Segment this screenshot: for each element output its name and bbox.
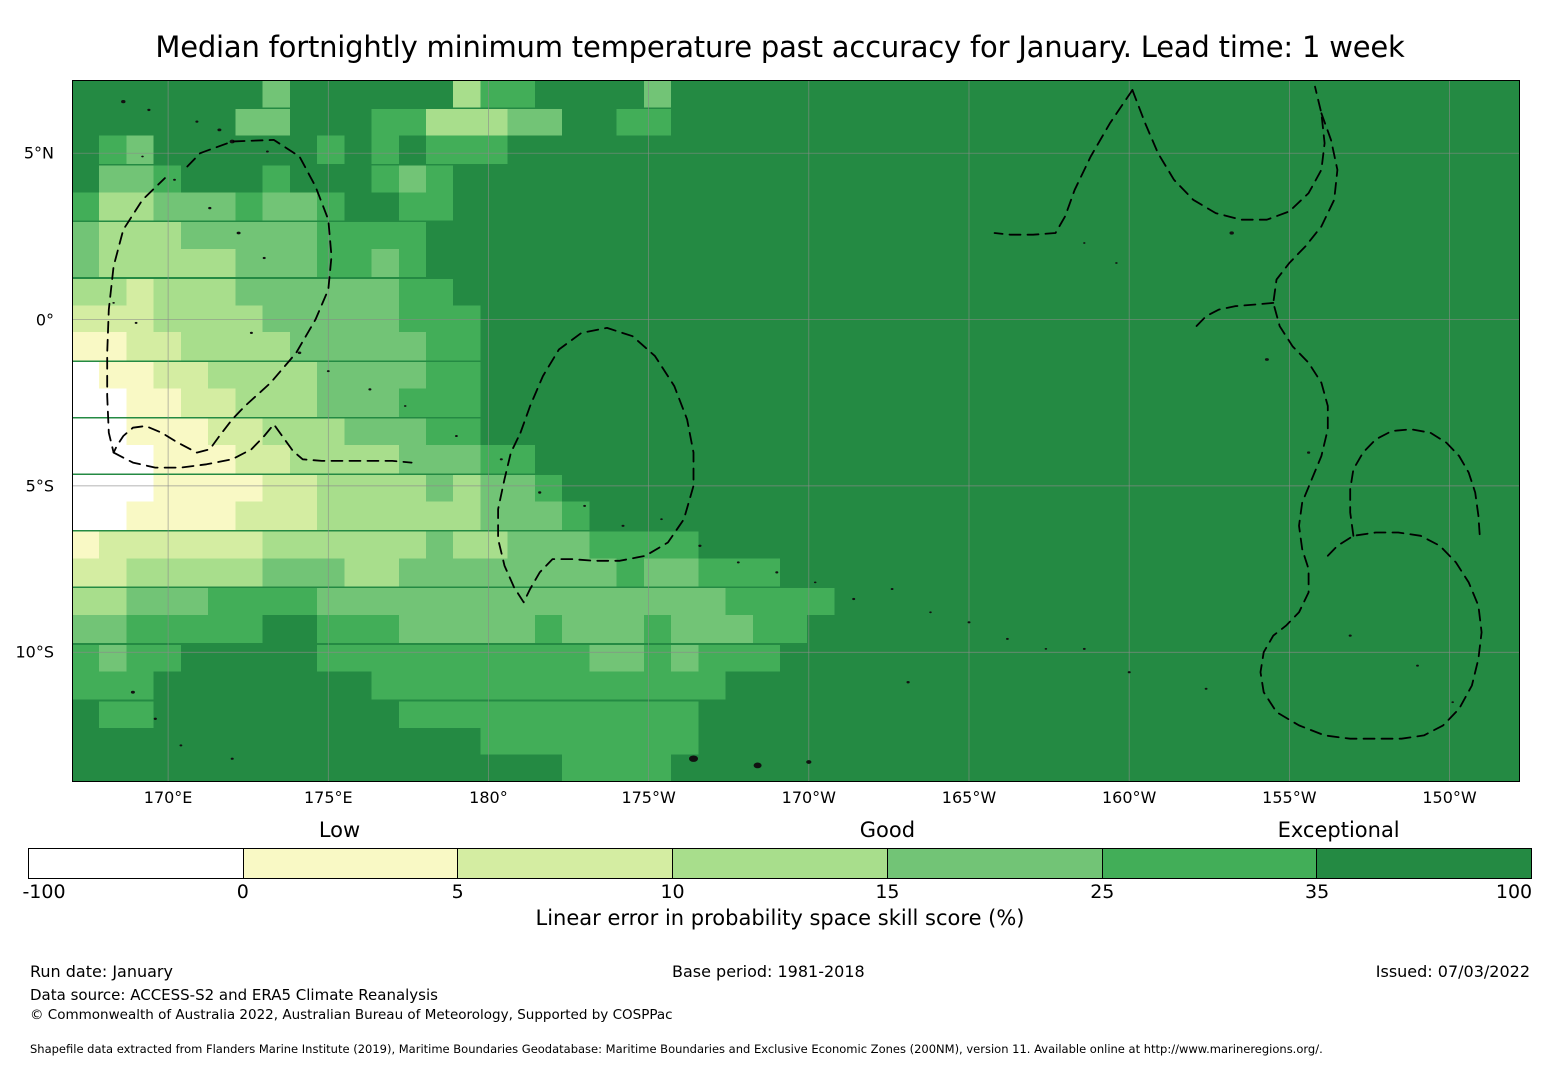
island-coastline xyxy=(180,744,183,746)
colorbar-segment[interactable] xyxy=(457,849,672,878)
heatmap-cell xyxy=(1379,192,1406,220)
heatmap-cell xyxy=(508,109,535,137)
heatmap-cell xyxy=(834,166,861,194)
heatmap-cell xyxy=(1188,222,1215,250)
heatmap-cell xyxy=(1107,222,1134,250)
heatmap-cell xyxy=(1025,166,1052,194)
heatmap-cell xyxy=(671,615,698,643)
heatmap-cell xyxy=(1352,645,1379,673)
heatmap-cell xyxy=(726,419,753,447)
heatmap-cell xyxy=(1488,166,1515,194)
heatmap-cell xyxy=(1406,362,1433,390)
heatmap-cell xyxy=(1379,136,1406,164)
heatmap-cell xyxy=(317,362,344,390)
heatmap-cell xyxy=(1161,701,1188,729)
heatmap-cell xyxy=(1325,615,1352,643)
heatmap-cell xyxy=(480,332,507,360)
footer-run-date: Run date: January xyxy=(30,962,173,981)
heatmap-cell xyxy=(126,192,153,220)
heatmap-cell xyxy=(508,475,535,503)
heatmap-cell xyxy=(943,332,970,360)
heatmap-cell xyxy=(263,558,290,586)
heatmap-cell xyxy=(644,109,671,137)
heatmap-cell xyxy=(1461,445,1488,473)
heatmap-cell xyxy=(263,532,290,560)
heatmap-cell xyxy=(1161,755,1188,782)
heatmap-cell xyxy=(1434,445,1461,473)
heatmap-cell xyxy=(126,109,153,137)
y-tick-label: 5°S xyxy=(26,476,54,495)
heatmap-cell xyxy=(535,419,562,447)
heatmap-cell xyxy=(617,166,644,194)
heatmap-cell xyxy=(1243,332,1270,360)
heatmap-cell xyxy=(263,222,290,250)
heatmap-cell xyxy=(208,671,235,699)
heatmap-cell xyxy=(617,192,644,220)
heatmap-cell xyxy=(1352,389,1379,417)
heatmap-cell xyxy=(235,615,262,643)
heatmap-cell xyxy=(726,249,753,277)
heatmap-cell xyxy=(617,615,644,643)
island-coastline xyxy=(1083,648,1086,650)
heatmap-cell xyxy=(372,755,399,782)
heatmap-cell xyxy=(889,249,916,277)
heatmap-cell xyxy=(698,279,725,307)
heatmap-cell xyxy=(1270,475,1297,503)
heatmap-cell xyxy=(862,166,889,194)
heatmap-cell xyxy=(1297,701,1324,729)
heatmap-cell xyxy=(671,645,698,673)
heatmap-cell xyxy=(99,755,126,782)
heatmap-cell xyxy=(399,645,426,673)
heatmap-cell xyxy=(1434,389,1461,417)
heatmap-cell xyxy=(998,419,1025,447)
heatmap-cell xyxy=(1434,645,1461,673)
heatmap-cell xyxy=(1406,80,1433,107)
heatmap-cell xyxy=(72,362,99,390)
heatmap-cell xyxy=(971,445,998,473)
heatmap-cell xyxy=(480,588,507,616)
heatmap-cell xyxy=(1243,109,1270,137)
colorbar-segment[interactable] xyxy=(29,849,243,878)
colorbar-segment[interactable] xyxy=(672,849,887,878)
heatmap-cell xyxy=(1243,222,1270,250)
heatmap-cell xyxy=(807,701,834,729)
heatmap-cell xyxy=(1243,755,1270,782)
heatmap-cell xyxy=(181,419,208,447)
heatmap-cell xyxy=(99,166,126,194)
heatmap-cell xyxy=(1325,588,1352,616)
heatmap-cell xyxy=(562,166,589,194)
heatmap-cell xyxy=(589,109,616,137)
island-coastline xyxy=(1307,451,1310,453)
heatmap-cell xyxy=(753,192,780,220)
heatmap-cell xyxy=(726,615,753,643)
colorbar-segment[interactable] xyxy=(1102,849,1317,878)
heatmap-cell xyxy=(208,332,235,360)
heatmap-cell xyxy=(181,615,208,643)
heatmap-cell xyxy=(263,755,290,782)
heatmap-cell xyxy=(99,645,126,673)
island-coastline xyxy=(622,525,625,527)
heatmap-cell xyxy=(780,80,807,107)
heatmap-cell xyxy=(1270,728,1297,756)
heatmap-cell xyxy=(562,249,589,277)
heatmap-cell xyxy=(1270,671,1297,699)
heatmap-cell xyxy=(807,389,834,417)
heatmap-cell xyxy=(99,362,126,390)
heatmap-cell xyxy=(317,701,344,729)
heatmap-cell xyxy=(99,671,126,699)
island-coastline xyxy=(1115,262,1118,264)
heatmap-cell xyxy=(916,419,943,447)
heatmap-cell xyxy=(1188,332,1215,360)
heatmap-cell xyxy=(1297,671,1324,699)
heatmap-cell xyxy=(753,502,780,530)
heatmap-cell xyxy=(1488,332,1515,360)
heatmap-cell xyxy=(1161,279,1188,307)
x-tick-label: 150°W xyxy=(1422,788,1476,807)
heatmap-cell xyxy=(753,362,780,390)
heatmap-cell xyxy=(1107,475,1134,503)
heatmap-cell xyxy=(671,332,698,360)
heatmap-cell xyxy=(480,109,507,137)
heatmap-cell xyxy=(426,80,453,107)
heatmap-cell xyxy=(508,166,535,194)
heatmap-cell xyxy=(399,475,426,503)
heatmap-cell xyxy=(943,532,970,560)
heatmap-cell xyxy=(317,192,344,220)
heatmap-cell xyxy=(698,532,725,560)
heatmap-cell xyxy=(1216,502,1243,530)
heatmap-cell xyxy=(862,136,889,164)
heatmap-cell xyxy=(698,502,725,530)
heatmap-cell xyxy=(943,80,970,107)
heatmap-cell xyxy=(1488,671,1515,699)
heatmap-cell xyxy=(753,136,780,164)
heatmap-cell xyxy=(426,532,453,560)
heatmap-cell xyxy=(1297,755,1324,782)
heatmap-cell xyxy=(72,615,99,643)
heatmap-cell xyxy=(889,588,916,616)
heatmap-cell xyxy=(535,332,562,360)
heatmap-cell xyxy=(508,588,535,616)
heatmap-cell xyxy=(426,166,453,194)
heatmap-cell xyxy=(1488,389,1515,417)
heatmap-cell xyxy=(1216,588,1243,616)
map-raster-svg xyxy=(72,80,1520,782)
heatmap-cell xyxy=(126,615,153,643)
heatmap-cell xyxy=(834,755,861,782)
heatmap-cell xyxy=(181,558,208,586)
heatmap-cell xyxy=(834,362,861,390)
heatmap-cell xyxy=(72,222,99,250)
heatmap-cell xyxy=(480,755,507,782)
heatmap-cell xyxy=(317,728,344,756)
heatmap-cell xyxy=(372,558,399,586)
heatmap-cell xyxy=(834,588,861,616)
heatmap-cell xyxy=(862,671,889,699)
heatmap-cell xyxy=(208,166,235,194)
heatmap-cell xyxy=(235,332,262,360)
heatmap-cell xyxy=(1161,389,1188,417)
heatmap-cell xyxy=(1270,755,1297,782)
y-tick-label: 0° xyxy=(36,310,54,329)
colorbar-tick: 0 xyxy=(237,881,249,903)
heatmap-cell xyxy=(453,701,480,729)
heatmap-cell xyxy=(372,166,399,194)
heatmap-cell xyxy=(1297,588,1324,616)
heatmap-cell xyxy=(617,728,644,756)
heatmap-cell xyxy=(480,445,507,473)
heatmap-cell xyxy=(535,249,562,277)
heatmap-cell xyxy=(372,671,399,699)
heatmap-cell xyxy=(1025,419,1052,447)
heatmap-cell xyxy=(263,166,290,194)
heatmap-cell xyxy=(943,249,970,277)
heatmap-cell xyxy=(1379,475,1406,503)
heatmap-cell xyxy=(1488,558,1515,586)
heatmap-cell xyxy=(617,532,644,560)
heatmap-cell xyxy=(1406,419,1433,447)
y-tick-label: 10°S xyxy=(15,643,54,662)
heatmap-cell xyxy=(508,532,535,560)
heatmap-cell xyxy=(562,109,589,137)
heatmap-cell xyxy=(1243,615,1270,643)
island-coastline xyxy=(775,571,778,573)
heatmap-cell xyxy=(208,109,235,137)
heatmap-cell xyxy=(589,445,616,473)
heatmap-cell xyxy=(562,475,589,503)
island-coastline xyxy=(404,405,407,407)
heatmap-cell xyxy=(807,615,834,643)
heatmap-cell xyxy=(698,109,725,137)
heatmap-cell xyxy=(834,279,861,307)
colorbar-segment[interactable] xyxy=(243,849,458,878)
heatmap-cell xyxy=(1243,558,1270,586)
heatmap-cell xyxy=(1379,249,1406,277)
heatmap-cell xyxy=(317,532,344,560)
heatmap-cell xyxy=(126,362,153,390)
heatmap-cell xyxy=(1052,279,1079,307)
colorbar-tick: 35 xyxy=(1305,881,1329,903)
heatmap-cell xyxy=(1243,671,1270,699)
heatmap-cell xyxy=(1052,362,1079,390)
heatmap-cell xyxy=(154,109,181,137)
heatmap-cell xyxy=(508,136,535,164)
heatmap-cell xyxy=(889,136,916,164)
heatmap-cell xyxy=(1080,279,1107,307)
heatmap-cell xyxy=(235,445,262,473)
heatmap-cell xyxy=(780,279,807,307)
heatmap-cell xyxy=(235,558,262,586)
heatmap-cell xyxy=(426,671,453,699)
heatmap-cell xyxy=(562,558,589,586)
heatmap-cell xyxy=(344,558,371,586)
heatmap-cell xyxy=(235,701,262,729)
heatmap-cell xyxy=(671,389,698,417)
heatmap-cell xyxy=(508,445,535,473)
heatmap-cell xyxy=(480,671,507,699)
heatmap-cell xyxy=(1406,389,1433,417)
heatmap-cell xyxy=(399,332,426,360)
heatmap-cell xyxy=(263,615,290,643)
heatmap-cell xyxy=(1243,362,1270,390)
colorbar-segment[interactable] xyxy=(887,849,1102,878)
island-coastline xyxy=(266,151,269,153)
heatmap-cell xyxy=(998,279,1025,307)
heatmap-cell xyxy=(1488,192,1515,220)
colorbar-segment[interactable] xyxy=(1316,849,1531,878)
heatmap-cell xyxy=(589,475,616,503)
heatmap-cell xyxy=(344,502,371,530)
heatmap-cell xyxy=(834,445,861,473)
heatmap-cell xyxy=(1161,728,1188,756)
heatmap-cell xyxy=(126,249,153,277)
heatmap-cell xyxy=(344,445,371,473)
heatmap-cell xyxy=(562,671,589,699)
heatmap-cell xyxy=(535,445,562,473)
heatmap-cell xyxy=(1080,362,1107,390)
heatmap-cell xyxy=(372,109,399,137)
heatmap-cell xyxy=(998,222,1025,250)
heatmap-cell xyxy=(780,362,807,390)
heatmap-cell xyxy=(862,645,889,673)
heatmap-cell xyxy=(916,558,943,586)
heatmap-cell xyxy=(562,136,589,164)
heatmap-cell xyxy=(1434,755,1461,782)
heatmap-cell xyxy=(1270,502,1297,530)
heatmap-cell xyxy=(1325,80,1352,107)
colorbar[interactable] xyxy=(28,848,1532,879)
heatmap-cell xyxy=(644,279,671,307)
heatmap-cell xyxy=(1134,362,1161,390)
heatmap-cell xyxy=(426,222,453,250)
heatmap-cell xyxy=(726,645,753,673)
heatmap-cell xyxy=(1434,109,1461,137)
heatmap-cell xyxy=(72,109,99,137)
heatmap-cell xyxy=(1134,249,1161,277)
heatmap-cell xyxy=(1488,755,1515,782)
heatmap-cell xyxy=(617,588,644,616)
heatmap-cell xyxy=(780,615,807,643)
heatmap-cell xyxy=(1379,532,1406,560)
heatmap-cell xyxy=(1297,109,1324,137)
island-coastline xyxy=(1128,671,1131,673)
heatmap-cell xyxy=(698,249,725,277)
heatmap-cell xyxy=(1080,728,1107,756)
heatmap-cell xyxy=(1134,502,1161,530)
heatmap-cell xyxy=(1107,332,1134,360)
heatmap-cell xyxy=(317,166,344,194)
island-coastline xyxy=(907,681,910,683)
heatmap-cell xyxy=(1406,475,1433,503)
heatmap-cell xyxy=(726,588,753,616)
heatmap-cell xyxy=(1325,475,1352,503)
heatmap-cell xyxy=(1025,249,1052,277)
heatmap-cell xyxy=(399,136,426,164)
heatmap-cell xyxy=(1488,701,1515,729)
island-coastline xyxy=(538,491,541,493)
heatmap-cell xyxy=(589,728,616,756)
heatmap-cell xyxy=(508,332,535,360)
heatmap-cell xyxy=(807,192,834,220)
heatmap-cell xyxy=(753,109,780,137)
heatmap-cell xyxy=(998,362,1025,390)
heatmap-cell xyxy=(1134,192,1161,220)
heatmap-cell xyxy=(780,728,807,756)
heatmap-cell xyxy=(998,615,1025,643)
heatmap-cell xyxy=(807,332,834,360)
heatmap-cell xyxy=(807,728,834,756)
heatmap-cell xyxy=(235,192,262,220)
colorbar-captions: LowGoodExceptional xyxy=(0,818,1560,848)
heatmap-cell xyxy=(426,615,453,643)
heatmap-cell xyxy=(1270,419,1297,447)
heatmap-cell xyxy=(535,136,562,164)
heatmap-cell xyxy=(508,192,535,220)
heatmap-cell xyxy=(916,445,943,473)
heatmap-cell xyxy=(644,332,671,360)
heatmap-cell xyxy=(399,728,426,756)
heatmap-cell xyxy=(1461,615,1488,643)
heatmap-cell xyxy=(943,279,970,307)
heatmap-cell xyxy=(344,136,371,164)
heatmap-cell xyxy=(971,166,998,194)
heatmap-cell xyxy=(1488,136,1515,164)
heatmap-cell xyxy=(372,645,399,673)
heatmap-cell xyxy=(508,728,535,756)
heatmap-cell xyxy=(290,222,317,250)
heatmap-cell xyxy=(99,80,126,107)
heatmap-cell xyxy=(426,419,453,447)
heatmap-cell xyxy=(1188,419,1215,447)
island-coastline xyxy=(298,352,302,355)
heatmap-cell xyxy=(399,362,426,390)
heatmap-cell xyxy=(644,136,671,164)
heatmap-cell xyxy=(998,645,1025,673)
heatmap-cell xyxy=(617,80,644,107)
heatmap-cell xyxy=(1216,222,1243,250)
heatmap-cell xyxy=(998,249,1025,277)
heatmap-cell xyxy=(1270,389,1297,417)
heatmap-cell xyxy=(344,615,371,643)
heatmap-cell xyxy=(1434,615,1461,643)
heatmap-cell xyxy=(916,532,943,560)
heatmap-cell xyxy=(862,558,889,586)
heatmap-cell xyxy=(372,279,399,307)
heatmap-cell xyxy=(399,615,426,643)
heatmap-cell xyxy=(916,755,943,782)
heatmap-cell xyxy=(1243,728,1270,756)
heatmap-cell xyxy=(1325,728,1352,756)
heatmap-cell xyxy=(263,109,290,137)
heatmap-cell xyxy=(1188,671,1215,699)
heatmap-cell xyxy=(971,80,998,107)
heatmap-cell xyxy=(834,109,861,137)
heatmap-cell xyxy=(671,222,698,250)
heatmap-cell xyxy=(317,755,344,782)
heatmap-cell xyxy=(644,701,671,729)
heatmap-cell xyxy=(644,615,671,643)
heatmap-cell xyxy=(344,671,371,699)
heatmap-cell xyxy=(235,362,262,390)
heatmap-cell xyxy=(753,671,780,699)
heatmap-cell xyxy=(943,588,970,616)
heatmap-cell xyxy=(1461,419,1488,447)
heatmap-cell xyxy=(372,502,399,530)
heatmap-cell xyxy=(726,192,753,220)
